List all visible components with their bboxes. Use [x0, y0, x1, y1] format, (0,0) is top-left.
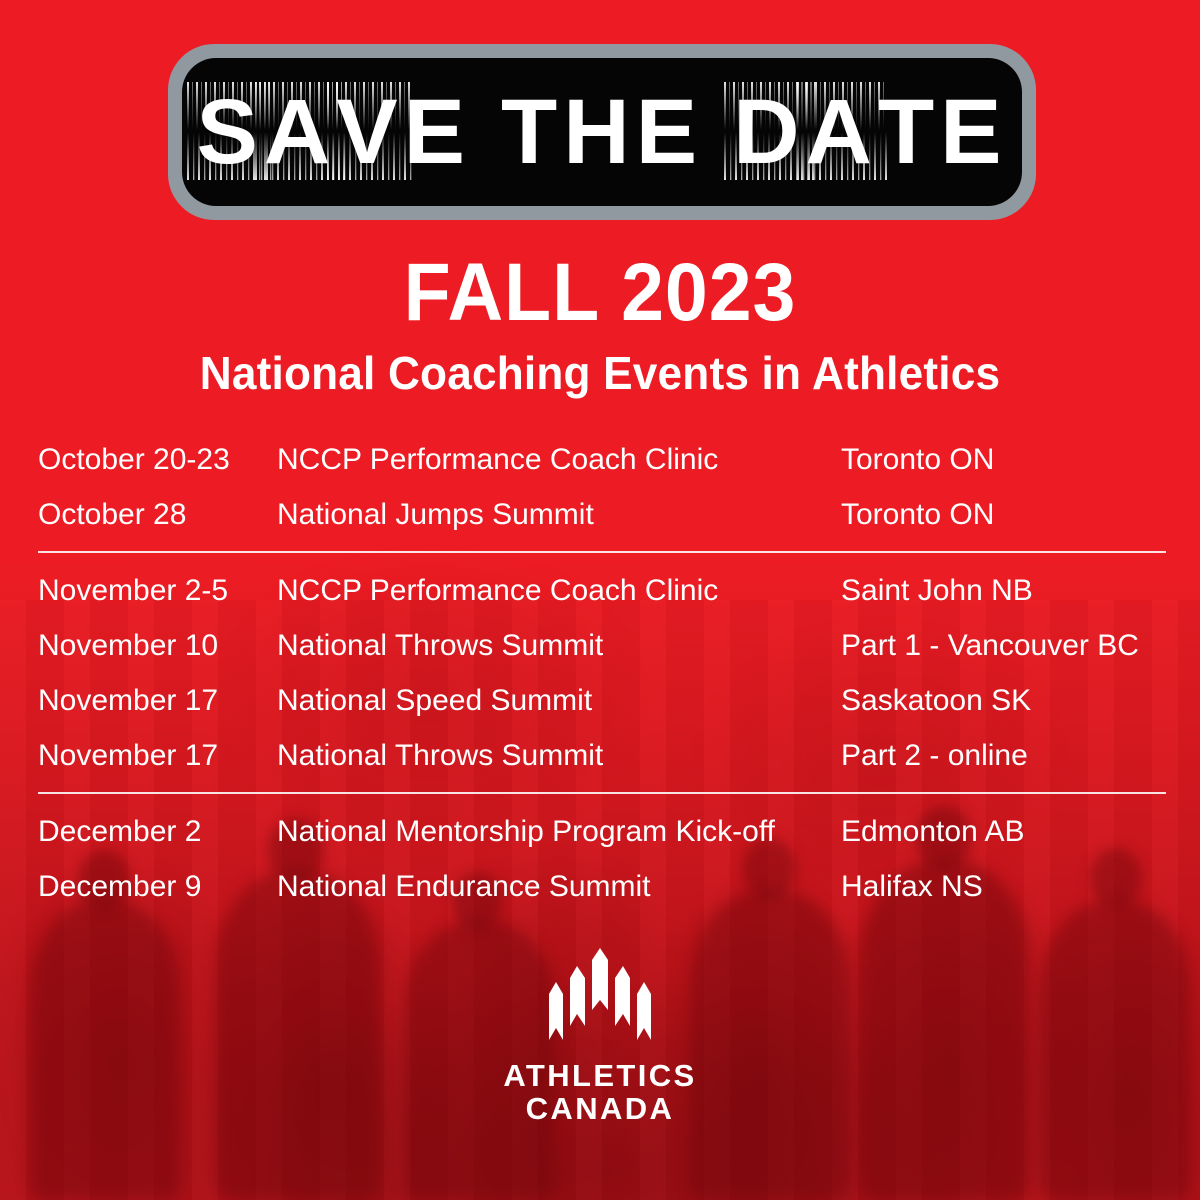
banner-letter-e-3: E	[404, 86, 471, 178]
maple-leaf-icon	[541, 948, 659, 1046]
event-location: Edmonton AB	[841, 817, 1166, 847]
event-location: Halifax NS	[841, 872, 1166, 902]
event-name: NCCP Performance Coach Clinic	[277, 445, 841, 475]
banner-letter-a-10: A	[806, 86, 878, 178]
event-name: National Throws Summit	[277, 741, 841, 771]
table-row: November 10National Throws SummitPart 1 …	[38, 618, 1166, 673]
event-date: November 2-5	[38, 576, 277, 606]
event-date: November 17	[38, 686, 277, 716]
save-the-date-banner: SAVETHEDATE	[168, 44, 1036, 220]
save-the-date-banner-inner: SAVETHEDATE	[182, 58, 1022, 206]
event-location: Toronto ON	[841, 445, 1166, 475]
table-row: December 2National Mentorship Program Ki…	[38, 804, 1166, 859]
table-row: October 20-23NCCP Performance Coach Clin…	[38, 432, 1166, 487]
event-date: December 2	[38, 817, 277, 847]
event-location: Part 1 - Vancouver BC	[841, 631, 1166, 661]
schedule-divider	[38, 542, 1166, 563]
table-row: October 28National Jumps SummitToronto O…	[38, 487, 1166, 542]
event-location: Toronto ON	[841, 500, 1166, 530]
banner-letter-v-2: V	[336, 86, 403, 178]
save-the-date-text: SAVETHEDATE	[196, 86, 1007, 178]
event-location: Saskatoon SK	[841, 686, 1166, 716]
logo-wordmark: ATHLETICS CANADA	[503, 1060, 696, 1126]
event-date: December 9	[38, 872, 277, 902]
save-the-date-poster: SAVETHEDATE FALL 2023 National Coaching …	[0, 0, 1200, 1200]
banner-letter-e-12: E	[940, 86, 1007, 178]
event-name: National Speed Summit	[277, 686, 841, 716]
banner-letter-a-1: A	[264, 86, 336, 178]
athletics-canada-logo: ATHLETICS CANADA	[0, 948, 1200, 1126]
logo-line-canada: CANADA	[503, 1093, 696, 1126]
table-row: November 17National Speed SummitSaskatoo…	[38, 673, 1166, 728]
banner-letter-t-11: T	[878, 86, 940, 178]
event-date: October 20-23	[38, 445, 277, 475]
event-name: National Jumps Summit	[277, 500, 841, 530]
banner-letter-e-7: E	[636, 86, 703, 178]
event-date: October 28	[38, 500, 277, 530]
event-location: Saint John NB	[841, 576, 1166, 606]
event-location: Part 2 - online	[841, 741, 1166, 771]
banner-letter-s-0: S	[196, 86, 263, 178]
event-date: November 10	[38, 631, 277, 661]
banner-letter-h-6: H	[563, 86, 635, 178]
table-row: December 9National Endurance SummitHalif…	[38, 859, 1166, 914]
page-subtitle: National Coaching Events in Athletics	[24, 350, 1176, 396]
page-title: FALL 2023	[36, 252, 1164, 334]
event-name: NCCP Performance Coach Clinic	[277, 576, 841, 606]
banner-letter-d-9: D	[733, 86, 805, 178]
event-date: November 17	[38, 741, 277, 771]
logo-line-athletics: ATHLETICS	[503, 1060, 696, 1093]
banner-letter-t-5: T	[501, 86, 563, 178]
schedule-divider	[38, 783, 1166, 804]
event-name: National Throws Summit	[277, 631, 841, 661]
table-row: November 17National Throws SummitPart 2 …	[38, 728, 1166, 783]
table-row: November 2-5NCCP Performance Coach Clini…	[38, 563, 1166, 618]
events-schedule: October 20-23NCCP Performance Coach Clin…	[38, 432, 1166, 914]
event-name: National Mentorship Program Kick-off	[277, 817, 841, 847]
event-name: National Endurance Summit	[277, 872, 841, 902]
